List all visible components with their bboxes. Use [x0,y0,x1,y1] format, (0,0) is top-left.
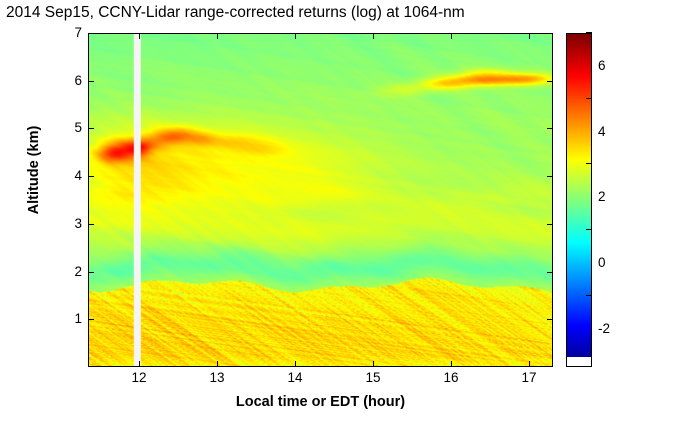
x-axis-label: Local time or EDT (hour) [88,394,553,410]
y-tick-1: 1 [56,311,82,326]
x-tick-15: 15 [353,370,393,385]
c-tick-2: 2 [598,189,606,204]
x-axis-ticks: 12 13 14 15 16 17 [88,370,553,390]
x-tick-14: 14 [275,370,315,385]
colorbar-under-range [567,357,591,366]
x-tick-17: 17 [509,370,549,385]
y-axis-ticks: 7 6 5 4 3 2 1 [54,33,82,367]
y-tick-5: 5 [56,120,82,135]
y-tick-7: 7 [56,25,82,40]
y-tick-3: 3 [56,216,82,231]
colorbar [566,33,592,367]
y-tick-4: 4 [56,168,82,183]
chart-title: 2014 Sep15, CCNY-Lidar range-corrected r… [6,4,465,22]
c-tick-4: 4 [598,124,606,139]
y-tick-2: 2 [56,264,82,279]
heatmap-plot [88,33,553,367]
y-tick-6: 6 [56,73,82,88]
colorbar-gradient [567,34,592,367]
c-tick-6: 6 [598,58,606,73]
chart-root: 2014 Sep15, CCNY-Lidar range-corrected r… [0,0,684,423]
colorbar-ticks: 6 4 2 0 -2 [594,33,634,367]
x-tick-13: 13 [197,370,237,385]
c-tick-neg2: -2 [598,321,610,336]
heatmap-canvas [89,34,552,366]
c-tick-0: 0 [598,255,606,270]
x-tick-16: 16 [431,370,471,385]
x-tick-12: 12 [119,370,159,385]
y-axis-label: Altitude (km) [26,90,42,250]
